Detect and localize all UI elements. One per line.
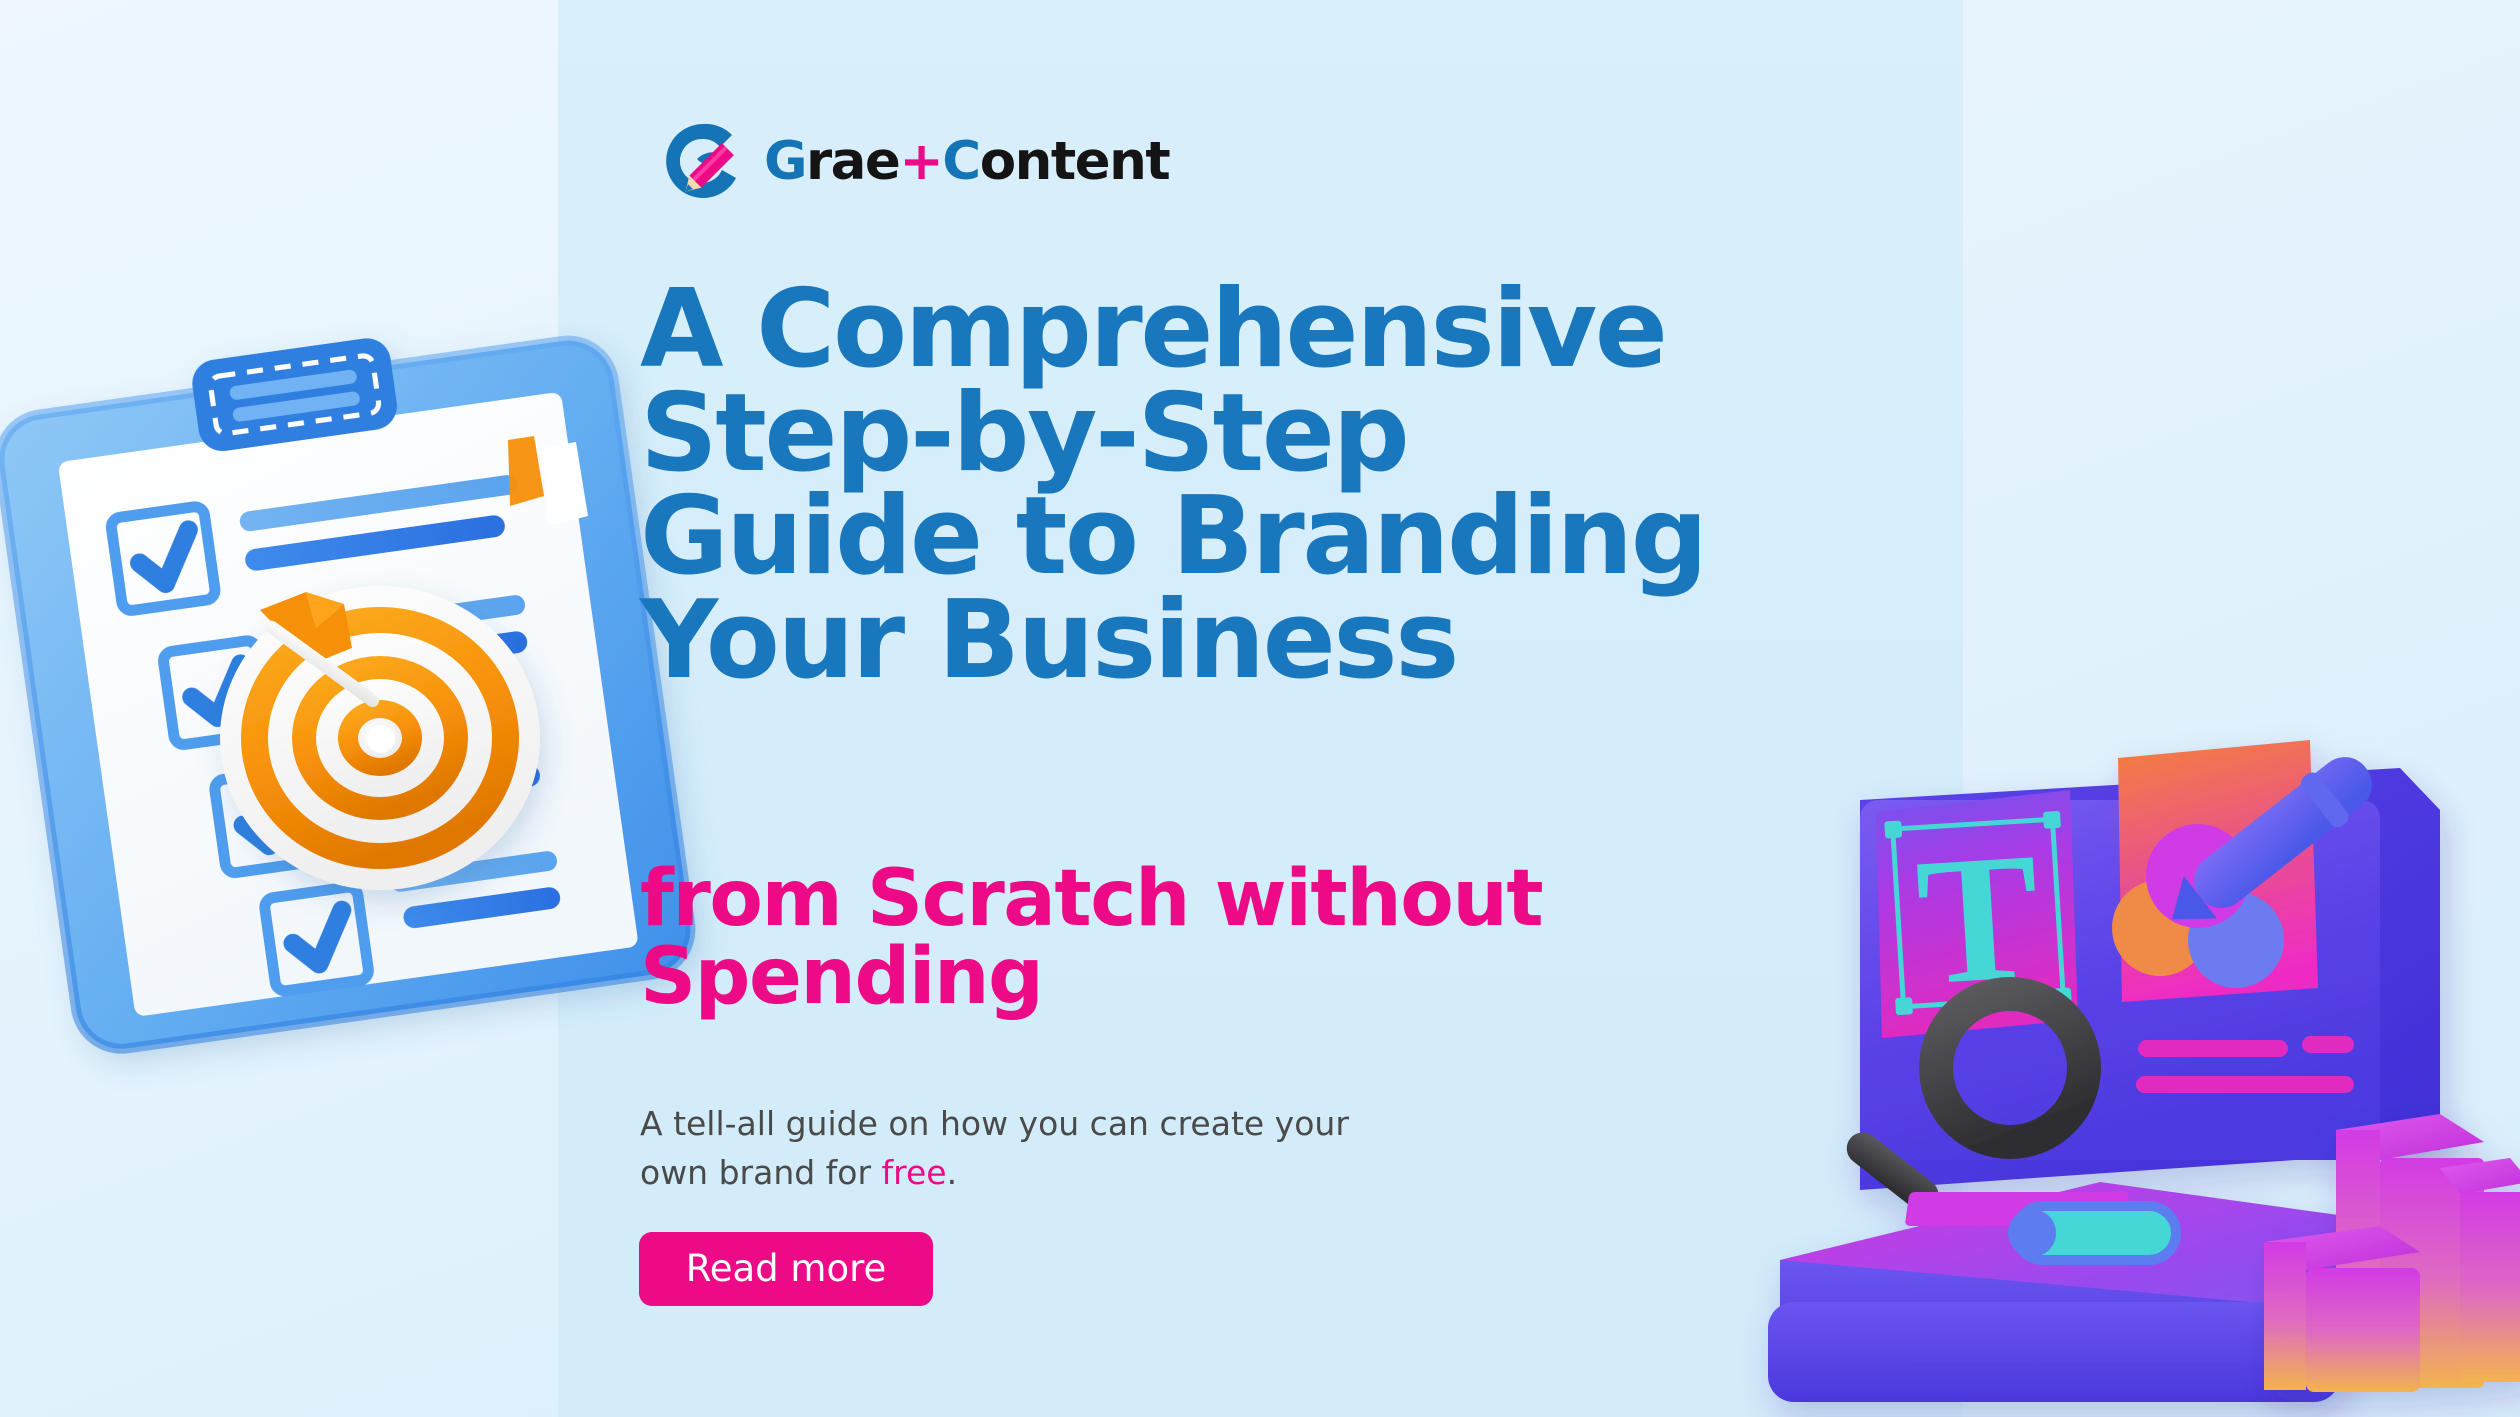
clipboard-clip [189, 335, 400, 454]
image-panel [2112, 740, 2318, 1002]
poster-canvas: T [0, 0, 2520, 1417]
wordmark-plus: + [899, 131, 942, 192]
grae-content-logo-icon [660, 118, 746, 204]
subtitle-accent-free: free [882, 1153, 947, 1192]
brand-logo[interactable]: Grae+Content [660, 118, 1169, 204]
dartboard-target [220, 586, 540, 890]
subtitle-text-pre: own brand for [640, 1153, 882, 1192]
wordmark-rae: rae [806, 131, 899, 192]
wordmark-ontent: ontent [980, 131, 1170, 192]
subtitle-text-post: . [947, 1153, 958, 1192]
headline-line-2: Step-by-Step [640, 382, 1980, 486]
headline-line-4: Your Business [640, 589, 1980, 693]
monitor-text-lines [2136, 1036, 2354, 1093]
hero-subtitle: A tell-all guide on how you can create y… [640, 1100, 1440, 1197]
subtitle-line-2: own brand for free. [640, 1149, 1440, 1198]
headline-accent-line-2: Spending [640, 938, 1640, 1016]
headline-line-1: A Comprehensive [640, 278, 1980, 382]
content-panel-background [558, 0, 1963, 1417]
brand-wordmark: Grae+Content [764, 135, 1169, 188]
headline-accent-line-1: from Scratch without [640, 860, 1640, 938]
pencil-icon [2153, 743, 2385, 943]
dart-arrow [260, 592, 395, 753]
wordmark-g: G [764, 131, 806, 192]
headline-line-3: Guide to Branding [640, 485, 1980, 589]
wordmark-c: C [942, 131, 979, 192]
bar-chart-blocks [2264, 1114, 2520, 1392]
read-more-button[interactable]: Read more [639, 1232, 933, 1306]
hero-headline: A Comprehensive Step-by-Step Guide to Br… [640, 278, 1980, 693]
hero-headline-accent: from Scratch without Spending [640, 860, 1640, 1016]
subtitle-line-1: A tell-all guide on how you can create y… [640, 1100, 1440, 1149]
